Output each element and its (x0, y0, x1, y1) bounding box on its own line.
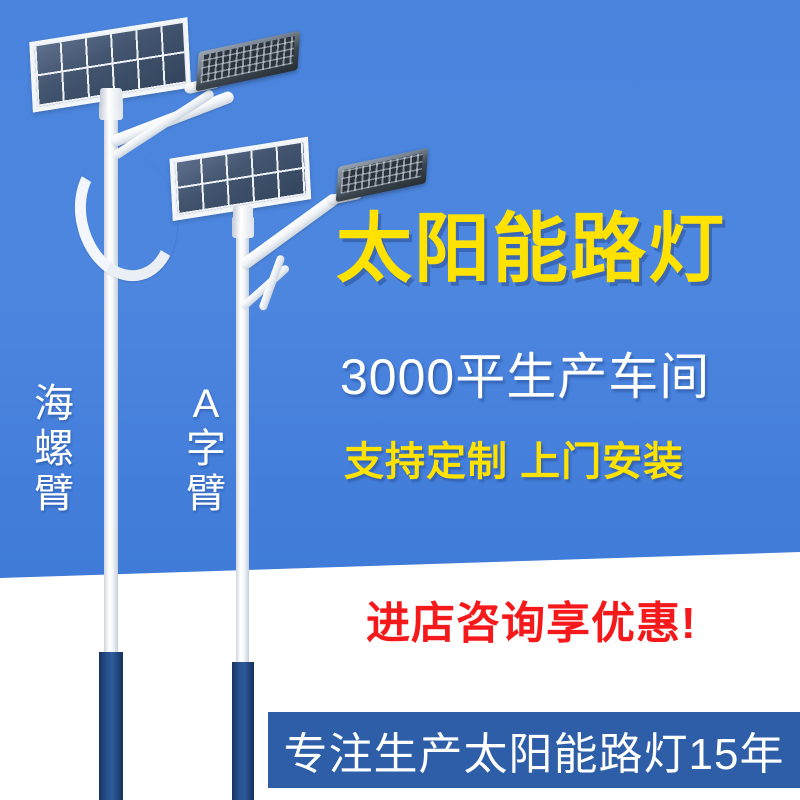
pole-navy-base (99, 652, 123, 800)
led-lamp-head (336, 148, 428, 202)
feature-workshop: 3000平生产车间 (340, 352, 780, 402)
caption-aframe-char-2: 字 (182, 427, 230, 472)
headline-title: 太阳能路灯 (336, 212, 784, 288)
caption-a-frame-arm: A 字 臂 (182, 382, 230, 516)
promo-cta: 进店咨询享优惠! (366, 602, 800, 646)
panel-mount-bracket (233, 206, 253, 222)
caption-conch-arm: 海 螺 臂 (30, 382, 78, 516)
panel-mount-bracket (100, 88, 122, 106)
caption-conch-char-1: 海 (30, 382, 78, 427)
solar-cells (175, 143, 306, 216)
caption-conch-char-3: 臂 (30, 472, 78, 517)
led-array (340, 153, 423, 194)
feature-services: 支持定制 上门安装 (344, 442, 784, 482)
led-lamp-head (196, 30, 300, 91)
footer-banner: 专注生产太阳能路灯15年 (268, 712, 800, 788)
led-array (200, 36, 295, 84)
footer-banner-text: 专注生产太阳能路灯15年 (284, 718, 785, 782)
caption-aframe-char-3: 臂 (182, 472, 230, 517)
caption-conch-char-2: 螺 (30, 427, 78, 472)
pole-shaft (236, 216, 249, 668)
pole-navy-base (232, 662, 254, 800)
product-banner: 海 螺 臂 A 字 臂 太阳能路灯 3000平生产车间 支持定制 上门安装 进店… (0, 0, 800, 800)
caption-aframe-char-1: A (182, 382, 230, 427)
